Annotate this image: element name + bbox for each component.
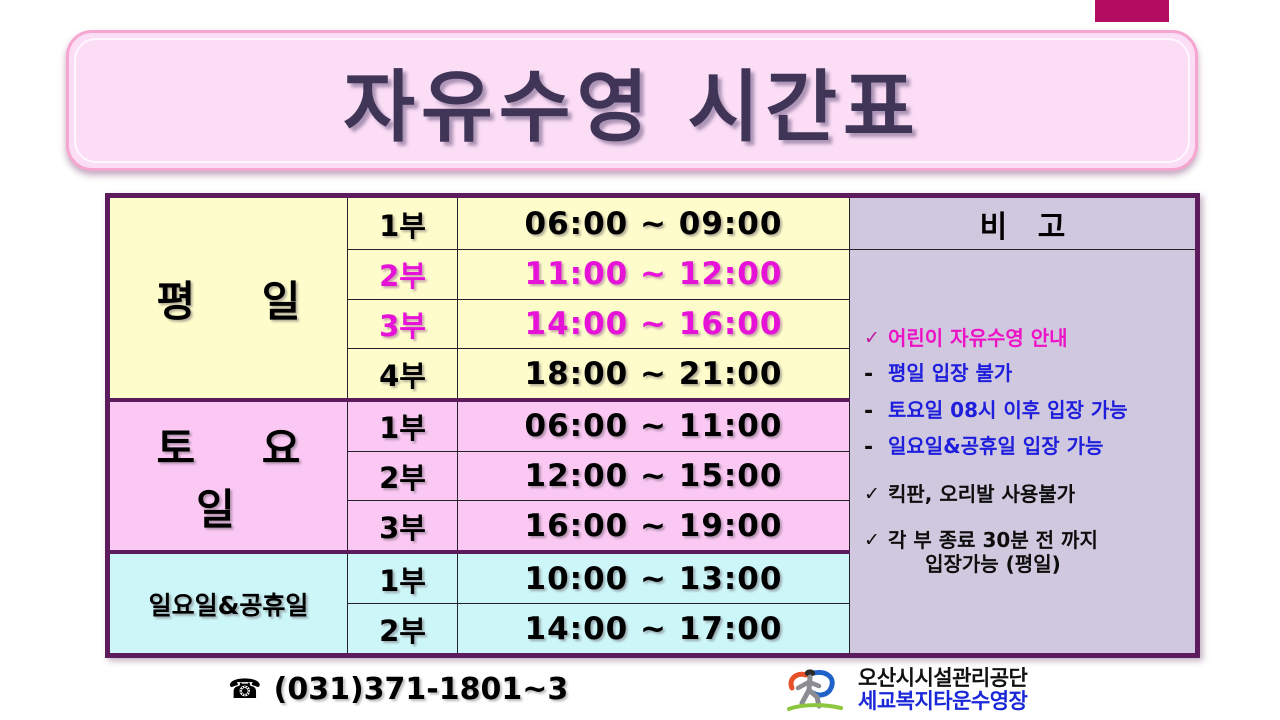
note-text: 평일 입장 불가 [888,362,1012,386]
time-range: 18:00 ~ 21:00 [458,349,850,400]
spacer [864,507,1195,522]
check-icon: ✓ [864,529,888,551]
note-text: 일요일&공휴일 입장 가능 [888,435,1103,459]
contact-phone: ☎ (031)371-1801~3 [228,672,568,707]
list-item: ✓ 각 부 종료 30분 전 까지 입장가능 (평일) [864,529,1195,576]
time-range: 10:00 ~ 13:00 [458,552,850,603]
part-label: 1부 [348,196,458,250]
part-label: 3부 [348,501,458,552]
spacer [864,388,1195,399]
dash-icon: - [864,399,888,425]
part-label: 2부 [348,250,458,300]
time-range: 06:00 ~ 11:00 [458,400,850,451]
part-label: 2부 [348,604,458,656]
org-name-secondary: 세교복지타운수영장 [858,690,1027,713]
corner-accent-block [1095,0,1169,22]
part-label: 2부 [348,451,458,501]
organization-logo: 오산시시설관리공단 세교복지타운수영장 [786,666,1027,714]
day-label-saturday: 토 요 일 [108,400,348,552]
dash-icon: - [864,435,888,461]
list-item: ✓ 킥판, 오리발 사용불가 [864,483,1195,507]
day-label-weekday: 평 일 [108,196,348,401]
notes-header: 비 고 [850,196,1198,250]
list-item: - 평일 입장 불가 [864,362,1195,388]
check-icon: ✓ [864,483,888,505]
org-name-primary: 오산시시설관리공단 [858,667,1027,690]
part-label: 1부 [348,400,458,451]
notes-list: ✓ 어린이 자유수영 안내 - 평일 입장 불가 - 토요일 08시 이후 입장… [864,327,1195,576]
part-label: 4부 [348,349,458,400]
dash-icon: - [864,362,888,388]
time-range: 14:00 ~ 17:00 [458,604,850,656]
part-label: 3부 [348,299,458,349]
spacer [864,461,1195,476]
swimming-schedule-table: 평 일 1부 06:00 ~ 09:00 비 고 2부 11:00 ~ 12:0… [105,193,1200,658]
part-label: 1부 [348,552,458,603]
title-banner: 자유수영 시간표 [66,30,1198,171]
note-text: 어린이 자유수영 안내 [888,327,1068,351]
organization-names: 오산시시설관리공단 세교복지타운수영장 [858,667,1027,712]
check-icon: ✓ [864,327,888,349]
list-item: - 일요일&공휴일 입장 가능 [864,435,1195,461]
running-figure-logo-icon [786,666,848,714]
table-row: 평 일 1부 06:00 ~ 09:00 비 고 [108,196,1198,250]
day-label-sunday-holiday: 일요일&공휴일 [108,552,348,655]
time-range: 14:00 ~ 16:00 [458,299,850,349]
list-item: - 토요일 08시 이후 입장 가능 [864,399,1195,425]
list-item: ✓ 어린이 자유수영 안내 [864,327,1195,351]
note-text: 각 부 종료 30분 전 까지 입장가능 (평일) [888,529,1098,576]
time-range: 11:00 ~ 12:00 [458,250,850,300]
page-title: 자유수영 시간표 [343,45,920,157]
time-range: 06:00 ~ 09:00 [458,196,850,250]
phone-number: (031)371-1801~3 [274,672,569,707]
notes-cell: ✓ 어린이 자유수영 안내 - 평일 입장 불가 - 토요일 08시 이후 입장… [850,250,1198,656]
note-text: 킥판, 오리발 사용불가 [888,483,1075,507]
time-range: 12:00 ~ 15:00 [458,451,850,501]
telephone-icon: ☎ [228,676,262,703]
time-range: 16:00 ~ 19:00 [458,501,850,552]
spacer [864,351,1195,362]
note-text: 토요일 08시 이후 입장 가능 [888,399,1128,423]
